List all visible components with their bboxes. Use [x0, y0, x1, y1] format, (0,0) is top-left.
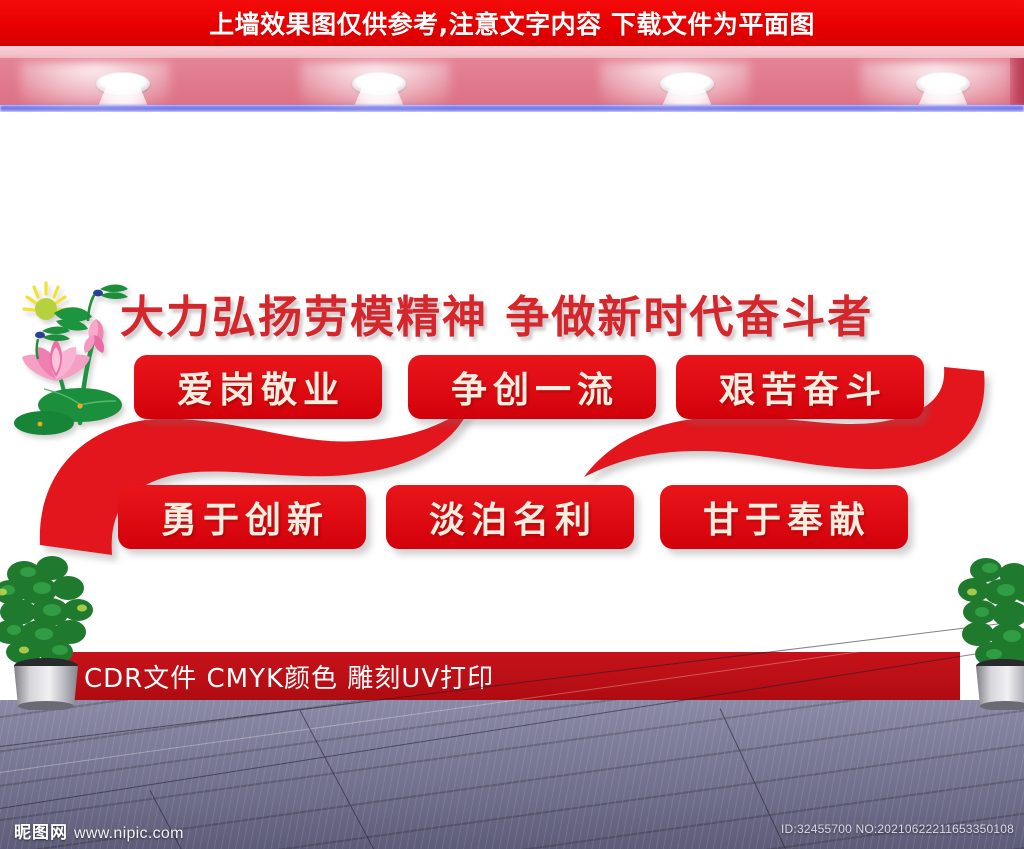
ceiling-edge-glow — [0, 105, 1024, 112]
file-info-bar: CDR文件 CMYK颜色 雕刻UV打印 — [60, 652, 960, 700]
floor-seam — [300, 710, 385, 849]
slogan-plaque-label: 争创一流 — [445, 361, 619, 413]
site-url: www.nipic.com — [74, 825, 184, 843]
top-notice-text: 上墙效果图仅供参考,注意文字内容 下载文件为平面图 — [209, 5, 815, 41]
poster-mockup-canvas: 上墙效果图仅供参考,注意文字内容 下载文件为平面图 — [0, 0, 1024, 849]
slogan-plaque-label: 爱岗敬业 — [171, 361, 345, 413]
lamp-floor-glow — [860, 62, 1010, 106]
lamp-floor-glow — [300, 62, 450, 106]
slogan-plaque-label: 艰苦奋斗 — [713, 361, 887, 413]
site-watermark: 昵图网 www.nipic.com — [14, 818, 184, 843]
potted-plant-right — [952, 548, 1024, 710]
lamp-floor-glow — [600, 62, 750, 106]
wall-graphic-design: 大力弘扬劳模精神 争做新时代奋斗者 爱岗敬业 争创一流 艰苦奋斗 勇于创新 淡泊… — [0, 255, 1024, 565]
slogan-plaque-label: 甘于奉献 — [697, 491, 871, 543]
asset-id-code: ID:32455700 NO:20210622211653350108 — [781, 822, 1014, 836]
slogan-plaque-1[interactable]: 爱岗敬业 — [134, 355, 382, 419]
slogan-plaque-5[interactable]: 淡泊名利 — [386, 485, 634, 549]
top-notice-banner: 上墙效果图仅供参考,注意文字内容 下载文件为平面图 — [0, 0, 1024, 46]
page-title: 大力弘扬劳模精神 争做新时代奋斗者 — [120, 281, 873, 345]
slogan-plaque-label: 勇于创新 — [155, 491, 329, 543]
slogan-plaque-6[interactable]: 甘于奉献 — [660, 485, 908, 549]
ceiling-right-return — [1010, 58, 1024, 105]
lamp-floor-glow — [20, 62, 170, 106]
file-info-text: CDR文件 CMYK颜色 雕刻UV打印 — [84, 658, 494, 695]
slogan-plaque-label: 淡泊名利 — [423, 491, 597, 543]
slogan-plaque-3[interactable]: 艰苦奋斗 — [676, 355, 924, 419]
slogan-plaque-2[interactable]: 争创一流 — [408, 355, 656, 419]
site-name: 昵图网 — [14, 818, 68, 843]
potted-plant-left — [0, 548, 106, 710]
slogan-plaque-4[interactable]: 勇于创新 — [118, 485, 366, 549]
